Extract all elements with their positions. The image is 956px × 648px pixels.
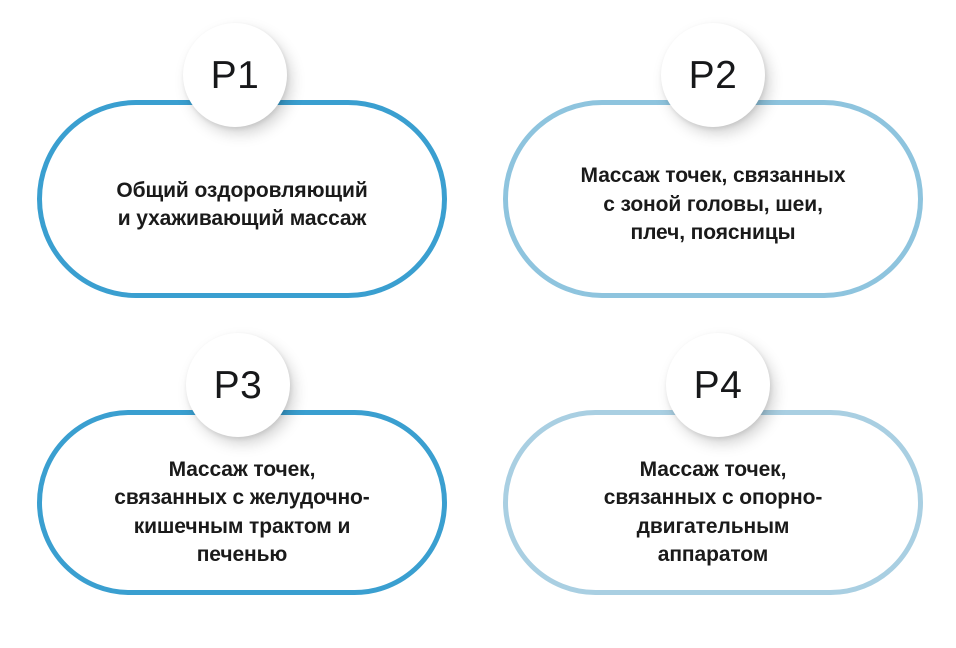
program-badge-p3-label: P3	[214, 366, 263, 405]
program-badge-p1-label: P1	[211, 56, 260, 95]
program-badge-p1[interactable]: P1	[183, 23, 287, 127]
program-card-p4[interactable]: Массаж точек, связанных с опорно- двигат…	[503, 410, 923, 595]
program-badge-p4-label: P4	[694, 366, 743, 405]
program-card-p2[interactable]: Массаж точек, связанных с зоной головы, …	[503, 100, 923, 298]
program-card-p1-text: Общий оздоровляющий и ухаживающий массаж	[90, 177, 393, 234]
program-card-p3-text: Массаж точек, связанных с желудочно- киш…	[88, 456, 395, 569]
program-card-p3[interactable]: Массаж точек, связанных с желудочно- киш…	[37, 410, 447, 595]
diagram-canvas: Общий оздоровляющий и ухаживающий массаж…	[0, 0, 956, 648]
program-badge-p2-label: P2	[689, 56, 738, 95]
program-card-p1[interactable]: Общий оздоровляющий и ухаживающий массаж	[37, 100, 447, 298]
program-badge-p3[interactable]: P3	[186, 333, 290, 437]
program-badge-p2[interactable]: P2	[661, 23, 765, 127]
program-card-p2-text: Массаж точек, связанных с зоной головы, …	[555, 162, 872, 247]
program-card-p4-text: Массаж точек, связанных с опорно- двигат…	[578, 456, 849, 569]
program-badge-p4[interactable]: P4	[666, 333, 770, 437]
